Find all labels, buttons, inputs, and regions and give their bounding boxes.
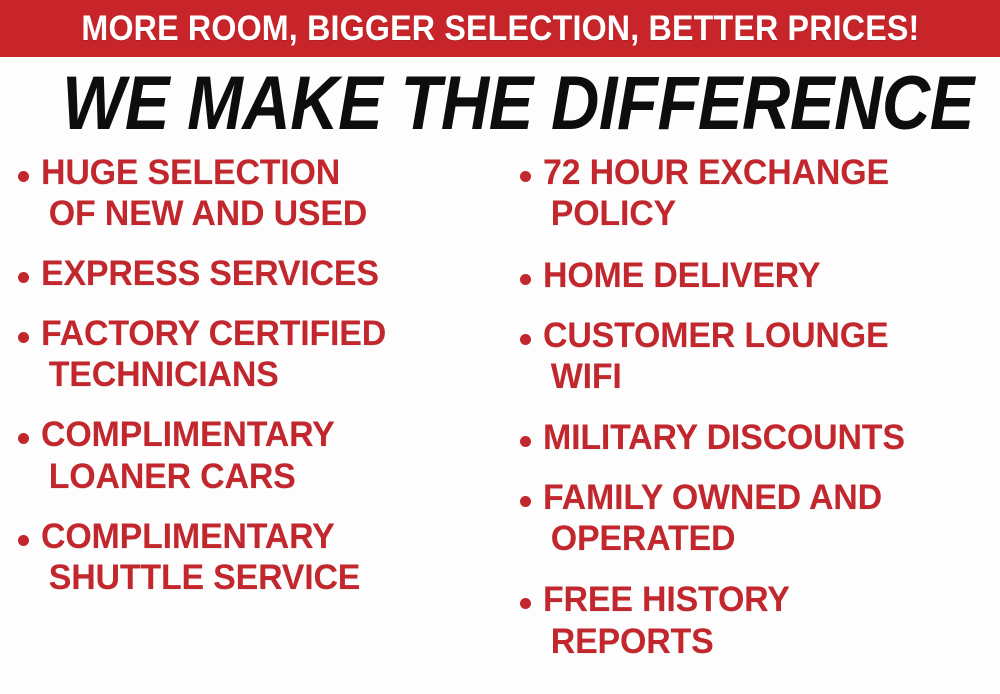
promo-banner-text: MORE ROOM, BIGGER SELECTION, BETTER PRIC… — [81, 11, 919, 46]
list-item: COMPLIMENTARY SHUTTLE SERVICE — [18, 516, 500, 599]
list-item-label: FAMILY OWNED AND OPERATED — [543, 477, 986, 560]
promo-banner: MORE ROOM, BIGGER SELECTION, BETTER PRIC… — [0, 0, 1000, 57]
list-item-label: FACTORY CERTIFIED TECHNICIANS — [41, 313, 486, 396]
list-item: HUGE SELECTION OF NEW AND USED — [18, 152, 500, 235]
list-item-label: COMPLIMENTARY SHUTTLE SERVICE — [41, 516, 486, 599]
list-item: FAMILY OWNED AND OPERATED — [520, 477, 1000, 560]
bullet-dot-icon — [520, 598, 531, 609]
headline: WE MAKE THE DIFFERENCE — [0, 66, 1000, 142]
list-item: MILITARY DISCOUNTS — [520, 417, 1000, 458]
bullet-dot-icon — [18, 535, 29, 546]
list-item-label: HOME DELIVERY — [543, 255, 986, 296]
bullet-dot-icon — [520, 334, 531, 345]
list-item-label: COMPLIMENTARY LOANER CARS — [41, 414, 486, 497]
list-item-label: FREE HISTORY REPORTS — [543, 579, 986, 662]
list-item-label: 72 HOUR EXCHANGE POLICY — [543, 152, 986, 235]
bullet-dot-icon — [520, 436, 531, 447]
benefits-column-right: 72 HOUR EXCHANGE POLICY HOME DELIVERY CU… — [500, 152, 1000, 679]
bullet-dot-icon — [520, 496, 531, 507]
list-item: FACTORY CERTIFIED TECHNICIANS — [18, 313, 500, 396]
list-item-label: MILITARY DISCOUNTS — [543, 417, 986, 458]
benefits-column-left: HUGE SELECTION OF NEW AND USED EXPRESS S… — [0, 152, 500, 616]
benefits-columns: HUGE SELECTION OF NEW AND USED EXPRESS S… — [0, 152, 1000, 694]
list-item: CUSTOMER LOUNGE WIFI — [520, 315, 1000, 398]
list-item: 72 HOUR EXCHANGE POLICY — [520, 152, 1000, 235]
list-item-label: HUGE SELECTION OF NEW AND USED — [41, 152, 486, 235]
list-item: EXPRESS SERVICES — [18, 253, 500, 294]
bullet-dot-icon — [18, 272, 29, 283]
bullet-dot-icon — [520, 171, 531, 182]
list-item-label: EXPRESS SERVICES — [41, 253, 486, 294]
list-item: FREE HISTORY REPORTS — [520, 579, 1000, 662]
list-item-label: CUSTOMER LOUNGE WIFI — [543, 315, 986, 398]
list-item: HOME DELIVERY — [520, 255, 1000, 296]
bullet-dot-icon — [18, 433, 29, 444]
list-item: COMPLIMENTARY LOANER CARS — [18, 414, 500, 497]
bullet-dot-icon — [18, 332, 29, 343]
bullet-dot-icon — [520, 274, 531, 285]
bullet-dot-icon — [18, 171, 29, 182]
headline-text: WE MAKE THE DIFFERENCE — [62, 66, 974, 142]
